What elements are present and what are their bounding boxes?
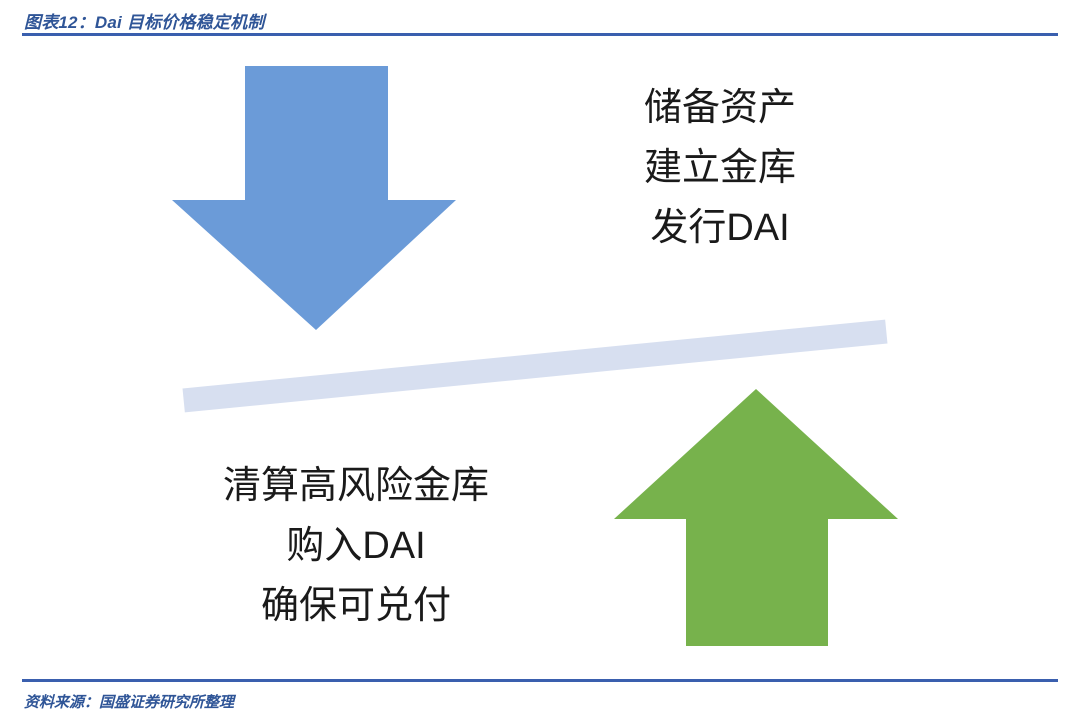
liquidation-actions-line-3: 确保可兑付: [196, 576, 516, 636]
exhibit-figure: 图表12：Dai 目标价格稳定机制 储备资产 建立金库 发行DAI 清算高风险金…: [0, 0, 1080, 722]
up-arrow-icon: [610, 389, 902, 651]
reserve-actions-line-1: 储备资产: [560, 78, 880, 138]
reserve-actions-line-3: 发行DAI: [560, 198, 880, 258]
reserve-actions-text: 储备资产 建立金库 发行DAI: [560, 78, 880, 258]
reserve-actions-line-2: 建立金库: [560, 138, 880, 198]
liquidation-actions-text: 清算高风险金库 购入DAI 确保可兑付: [196, 456, 516, 636]
supply-increase-arrow: [168, 66, 464, 368]
down-arrow-icon: [168, 66, 464, 368]
liquidation-actions-line-1: 清算高风险金库: [196, 456, 516, 516]
liquidation-actions-line-2: 购入DAI: [196, 516, 516, 576]
exhibit-title: 图表12：Dai 目标价格稳定机制: [24, 8, 265, 33]
footer-divider: [22, 679, 1058, 682]
source-note: 资料来源：国盛证券研究所整理: [24, 691, 234, 712]
diagram-canvas: 储备资产 建立金库 发行DAI 清算高风险金库 购入DAI 确保可兑付: [0, 36, 1080, 679]
supply-decrease-arrow: [610, 389, 902, 651]
